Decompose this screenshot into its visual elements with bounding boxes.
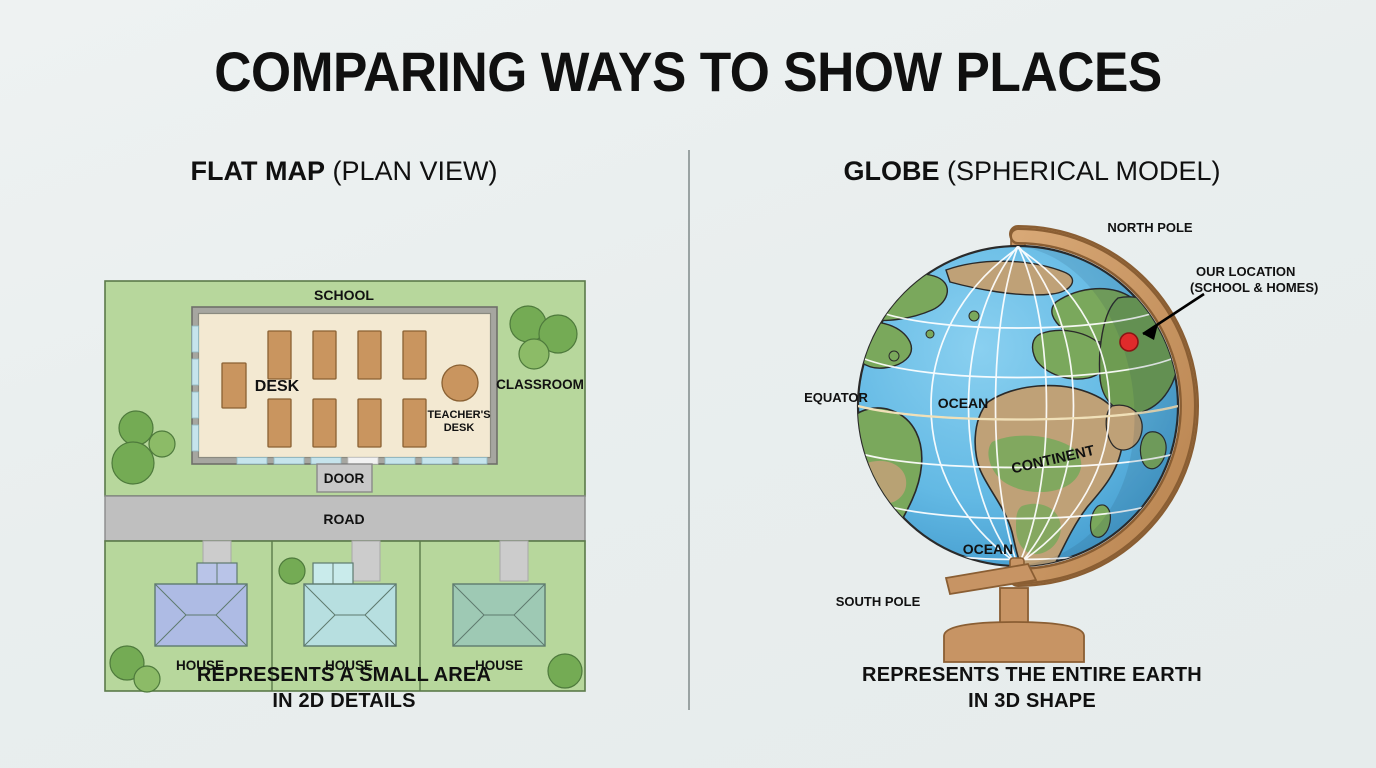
our-location-marker (1120, 333, 1138, 351)
globe-heading-strong: GLOBE (843, 156, 939, 186)
tree-icon (149, 431, 175, 457)
island-icon (889, 351, 899, 361)
island-icon (969, 311, 979, 321)
door-opening (348, 458, 378, 465)
window-icon (192, 326, 199, 352)
label-school: SCHOOL (314, 287, 374, 303)
flat-map-heading-strong: FLAT MAP (190, 156, 324, 186)
label-door: DOOR (324, 471, 365, 486)
window-icon (274, 458, 304, 465)
window-icon (422, 458, 452, 465)
flat-map-panel: FLAT MAP (PLAN VIEW) (0, 150, 688, 750)
label-teachers-desk-line2: DESK (444, 422, 475, 434)
tree-icon (279, 558, 305, 584)
globe-heading: GLOBE (SPHERICAL MODEL) (688, 158, 1376, 185)
label-our-location-line2: (SCHOOL & HOMES) (1190, 280, 1318, 295)
desk-shape (313, 399, 336, 447)
window-icon (192, 359, 199, 385)
label-classroom: CLASSROOM (496, 377, 584, 392)
desk-shape (268, 331, 291, 379)
label-road: ROAD (323, 511, 364, 527)
flat-map-art: SCHOOL CLASSROOM DESK TEACHER'S DESK DOO… (0, 206, 688, 646)
desk-shape (403, 399, 426, 447)
globe-panel: GLOBE (SPHERICAL MODEL) (688, 150, 1376, 750)
window-icon (385, 458, 415, 465)
globe-caption-line1: REPRESENTS THE ENTIRE EARTH (688, 662, 1376, 688)
globe-art: NORTH POLE OUR LOCATION (SCHOOL & HOMES)… (688, 206, 1376, 646)
tree-icon (119, 411, 153, 445)
desk-shape (358, 399, 381, 447)
driveway (352, 541, 380, 581)
label-desk: DESK (255, 378, 300, 395)
driveway (500, 541, 528, 581)
window-icon (459, 458, 487, 465)
label-ocean-upper: OCEAN (938, 395, 989, 411)
tree-icon (112, 442, 154, 484)
desk-shape (222, 363, 246, 408)
house-plan-3 (453, 584, 545, 646)
teachers-desk-shape (442, 365, 478, 401)
label-north-pole: NORTH POLE (1107, 220, 1193, 235)
desk-shape (403, 331, 426, 379)
window-icon (311, 458, 341, 465)
label-our-location-line1: OUR LOCATION (1196, 264, 1295, 279)
window-icon (192, 425, 199, 451)
flat-map-caption: REPRESENTS A SMALL AREA IN 2D DETAILS (0, 662, 688, 714)
flat-map-heading: FLAT MAP (PLAN VIEW) (0, 158, 688, 185)
label-teachers-desk-line1: TEACHER'S (427, 409, 490, 421)
globe-heading-light: (SPHERICAL MODEL) (947, 156, 1221, 186)
window-group-bottom (237, 458, 487, 465)
globe-stand-base (944, 622, 1084, 662)
flat-map-caption-line1: REPRESENTS A SMALL AREA (0, 662, 688, 688)
window-icon (192, 392, 199, 418)
globe-caption-line2: IN 3D SHAPE (688, 688, 1376, 714)
flat-map-caption-line2: IN 2D DETAILS (0, 688, 688, 714)
flat-map-heading-light: (PLAN VIEW) (332, 156, 497, 186)
tree-icon (519, 339, 549, 369)
globe-stand-post (1000, 588, 1028, 626)
label-south-pole: SOUTH POLE (836, 594, 921, 609)
diagram-page: COMPARING WAYS TO SHOW PLACES FLAT MAP (… (0, 0, 1376, 768)
desk-shape (358, 331, 381, 379)
window-icon (237, 458, 267, 465)
island-icon (926, 330, 934, 338)
desk-shape (313, 331, 336, 379)
page-title: COMPARING WAYS TO SHOW PLACES (55, 44, 1321, 100)
globe-caption: REPRESENTS THE ENTIRE EARTH IN 3D SHAPE (688, 662, 1376, 714)
label-ocean-lower: OCEAN (963, 541, 1014, 557)
label-equator: EQUATOR (804, 390, 868, 405)
desk-shape (268, 399, 291, 447)
